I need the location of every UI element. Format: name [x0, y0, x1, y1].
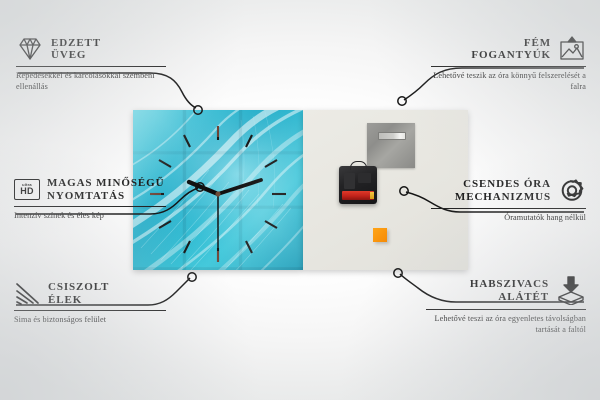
divider [16, 66, 166, 67]
feature-heading: CSISZOLTÉLEK [14, 281, 166, 306]
metal-hanger-plate [367, 123, 415, 168]
feature-title: MAGAS MINŐSÉGŰNYOMTATÁS [47, 177, 164, 202]
badge-hd-label: HD [20, 187, 34, 196]
clock-mechanism-box [339, 166, 377, 204]
infographic-canvas: EDZETTÜVEG Repedésekkel és karcolásokkal… [0, 0, 600, 400]
mechanism-shaft [344, 173, 355, 189]
feature-heading: FÉMFOGANTYÚK [431, 36, 586, 62]
mechanism-dial [358, 173, 371, 183]
foam-pad-icon [556, 276, 586, 305]
feature-description: Repedésekkel és karcolásokkal szembeni e… [16, 71, 166, 92]
feature-title: FÉMFOGANTYÚK [471, 37, 551, 62]
hanger-slot [378, 132, 406, 140]
feature-habszivacs-alatet: HABSZIVACSALÁTÉT Lehetővé teszi az óra e… [426, 276, 586, 335]
feature-magas-minosegu-nyomtatas: ultra HD MAGAS MINŐSÉGŰNYOMTATÁS Intenzí… [14, 177, 166, 222]
battery-tip [370, 192, 374, 199]
feature-csiszolt-elek: CSISZOLTÉLEK Sima és biztonságos felület [14, 281, 166, 326]
diamond-icon [16, 36, 44, 62]
feature-heading: EDZETTÜVEG [16, 36, 166, 62]
feature-title: CSENDES ÓRAMECHANIZMUS [455, 178, 551, 203]
feature-description: Lehetővé teszi az óra egyenletes távolsá… [426, 314, 586, 335]
ultra-hd-badge-icon: ultra HD [14, 179, 40, 200]
feature-heading: CSENDES ÓRAMECHANIZMUS [431, 177, 586, 204]
feature-heading: HABSZIVACSALÁTÉT [426, 276, 586, 305]
feature-description: Sima és biztonságos felület [14, 315, 166, 326]
feature-title: CSISZOLTÉLEK [48, 281, 109, 306]
divider [14, 310, 166, 311]
feature-fem-fogantyuk: FÉMFOGANTYÚK Lehetővé teszik az óra könn… [431, 36, 586, 92]
divider [14, 206, 166, 207]
picture-hanger-icon [558, 36, 586, 62]
gear-icon [558, 177, 586, 204]
divider [431, 208, 586, 209]
battery [342, 191, 374, 200]
feature-title: EDZETTÜVEG [51, 37, 101, 62]
polished-edges-icon [14, 281, 41, 306]
divider [431, 66, 586, 67]
feature-description: Óramutatók hang nélkül [431, 213, 586, 224]
divider [426, 309, 586, 310]
product-photo [133, 110, 468, 270]
foam-spacer-pad [373, 228, 387, 242]
feature-title: HABSZIVACSALÁTÉT [470, 278, 549, 303]
feature-heading: ultra HD MAGAS MINŐSÉGŰNYOMTATÁS [14, 177, 166, 202]
mechanism-hanger-loop [350, 161, 367, 170]
feature-edzett-uveg: EDZETTÜVEG Repedésekkel és karcolásokkal… [16, 36, 166, 92]
feature-description: Lehetővé teszik az óra könnyű felszerelé… [431, 71, 586, 92]
feature-description: Intenzív színek és éles kép [14, 211, 166, 222]
feature-csendes-ora-mechanizmus: CSENDES ÓRAMECHANIZMUS Óramutatók hang n… [431, 177, 586, 224]
